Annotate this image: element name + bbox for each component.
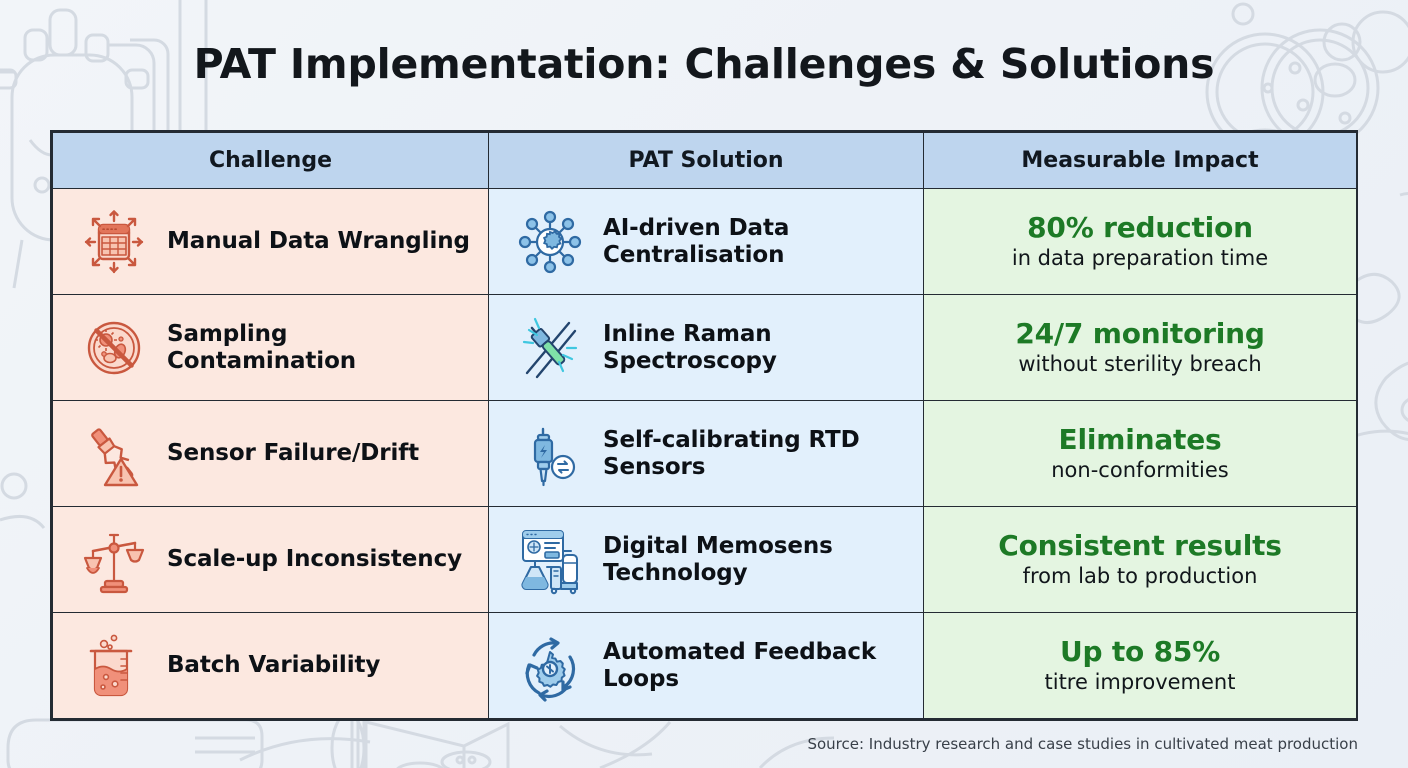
source-note: Source: Industry research and case studi…: [0, 735, 1358, 753]
raman-probe-icon: [511, 309, 589, 387]
impact-headline: Eliminates: [1059, 424, 1222, 456]
challenge-cell: Sensor Failure/Drift: [53, 401, 489, 507]
bubbling-beaker-icon: [75, 627, 153, 705]
challenge-cell: Batch Variability: [53, 613, 489, 719]
impact-headline: Up to 85%: [1060, 636, 1220, 668]
solution-label: Inline Raman Spectroscopy: [603, 321, 913, 375]
impact-headline: Consistent results: [998, 530, 1282, 562]
table-row: Batch Variability: [53, 613, 1357, 719]
solution-label: AI-driven Data Centralisation: [603, 215, 913, 269]
challenge-label: Scale-up Inconsistency: [167, 546, 462, 573]
table-row: Scale-up Inconsistency: [53, 507, 1357, 613]
table-row: Manual Data Wrangling: [53, 189, 1357, 295]
impact-headline: 24/7 monitoring: [1015, 318, 1264, 350]
impact-cell: Eliminates non-conformities: [924, 401, 1357, 507]
challenge-label: Sensor Failure/Drift: [167, 440, 419, 467]
impact-headline: 80% reduction: [1027, 212, 1253, 244]
solution-cell: Self-calibrating RTD Sensors: [489, 401, 924, 507]
challenge-cell: Sampling Contamination: [53, 295, 489, 401]
header-pat-solution: PAT Solution: [489, 133, 924, 189]
solution-label: Digital Memosens Technology: [603, 533, 913, 587]
impact-subtext: non-conformities: [1051, 458, 1228, 483]
solution-label: Automated Feedback Loops: [603, 639, 913, 693]
pat-table: Challenge PAT Solution Measurable Impact: [50, 130, 1358, 721]
impact-cell: 24/7 monitoring without sterility breach: [924, 295, 1357, 401]
lab-monitor-flask-icon: [511, 521, 589, 599]
challenge-label: Manual Data Wrangling: [167, 228, 470, 255]
broken-sensor-warning-icon: [75, 415, 153, 493]
impact-subtext: from lab to production: [1023, 564, 1258, 589]
solution-cell: AI-driven Data Centralisation: [489, 189, 924, 295]
header-measurable-impact: Measurable Impact: [924, 133, 1357, 189]
header-challenge: Challenge: [53, 133, 489, 189]
spreadsheet-arrows-icon: [75, 203, 153, 281]
rtd-sensor-sync-icon: [511, 415, 589, 493]
infographic-page: PAT Implementation: Challenges & Solutio…: [0, 0, 1408, 768]
network-hub-gear-icon: [511, 203, 589, 281]
impact-subtext: in data preparation time: [1012, 246, 1268, 271]
solution-cell: Automated Feedback Loops: [489, 613, 924, 719]
solution-cell: Inline Raman Spectroscopy: [489, 295, 924, 401]
table-row: Sensor Failure/Drift: [53, 401, 1357, 507]
solution-cell: Digital Memosens Technology: [489, 507, 924, 613]
impact-cell: Consistent results from lab to productio…: [924, 507, 1357, 613]
no-contamination-icon: [75, 309, 153, 387]
impact-cell: 80% reduction in data preparation time: [924, 189, 1357, 295]
impact-subtext: without sterility breach: [1018, 352, 1261, 377]
impact-subtext: titre improvement: [1045, 670, 1236, 695]
challenge-label: Batch Variability: [167, 652, 380, 679]
solution-label: Self-calibrating RTD Sensors: [603, 427, 913, 481]
table-row: Sampling Contamination: [53, 295, 1357, 401]
impact-cell: Up to 85% titre improvement: [924, 613, 1357, 719]
table-header-row: Challenge PAT Solution Measurable Impact: [53, 133, 1357, 189]
unbalanced-scales-icon: [75, 521, 153, 599]
challenge-label: Sampling Contamination: [167, 321, 478, 375]
feedback-loop-gear-icon: [511, 627, 589, 705]
challenge-cell: Scale-up Inconsistency: [53, 507, 489, 613]
page-title: PAT Implementation: Challenges & Solutio…: [0, 40, 1408, 88]
challenge-cell: Manual Data Wrangling: [53, 189, 489, 295]
